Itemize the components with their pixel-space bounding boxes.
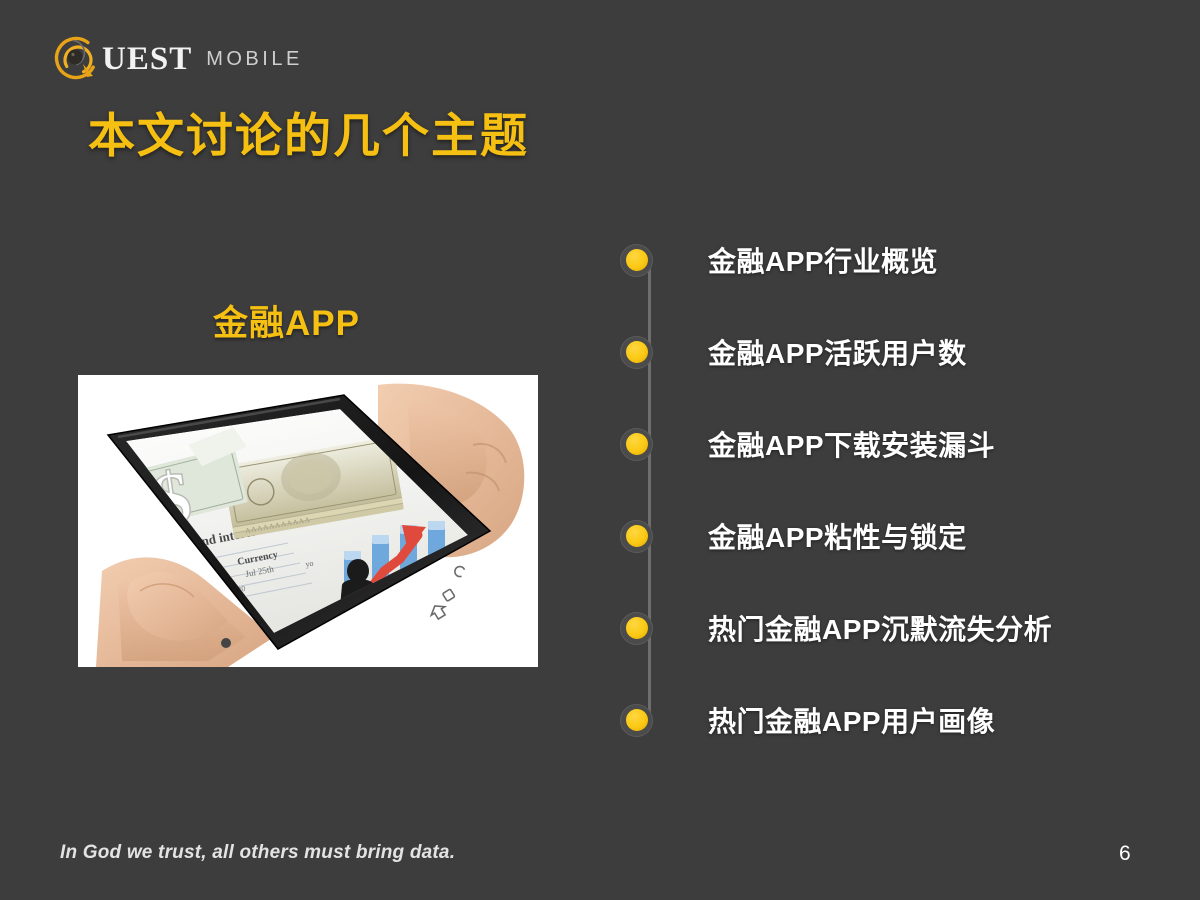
bullet-dot-icon — [620, 520, 653, 553]
brand-logo: UEST MOBILE — [52, 33, 303, 85]
bullet-dot-icon — [620, 704, 653, 737]
logo-quest-text: UEST — [102, 43, 192, 76]
topic-label: 金融APP行业概览 — [708, 240, 938, 280]
svg-text:yo: yo — [305, 559, 315, 569]
topic-item-6[interactable]: 热门金融APP用户画像 — [620, 700, 995, 740]
logo-mobile-text: MOBILE — [206, 49, 303, 69]
topic-label: 热门金融APP用户画像 — [708, 700, 995, 740]
bullet-dot-icon — [620, 612, 653, 645]
page-number: 6 — [1119, 842, 1131, 866]
timeline-connector — [648, 260, 651, 722]
topic-label: 金融APP粘性与锁定 — [708, 516, 967, 556]
footer-quote: In God we trust, all others must bring d… — [60, 842, 455, 864]
topic-item-3[interactable]: 金融APP下载安装漏斗 — [620, 424, 995, 464]
topic-item-1[interactable]: 金融APP行业概览 — [620, 240, 938, 280]
slide-root: UEST MOBILE 本文讨论的几个主题 金融APP — [0, 0, 1200, 900]
bullet-dot-icon — [620, 428, 653, 461]
topics-timeline: 金融APP行业概览 金融APP活跃用户数 金融APP下载安装漏斗 金融APP粘性… — [620, 230, 1140, 750]
finance-tablet-photo: and interes ace Currency Jul 25th yo 120… — [78, 375, 538, 667]
topic-item-2[interactable]: 金融APP活跃用户数 — [620, 332, 967, 372]
bullet-dot-icon — [620, 244, 653, 277]
bullet-dot-icon — [620, 336, 653, 369]
topic-label: 热门金融APP沉默流失分析 — [708, 608, 1052, 648]
topic-item-4[interactable]: 金融APP粘性与锁定 — [620, 516, 967, 556]
topic-item-5[interactable]: 热门金融APP沉默流失分析 — [620, 608, 1052, 648]
topic-label: 金融APP下载安装漏斗 — [708, 424, 995, 464]
questmobile-q-logo-icon — [52, 33, 104, 85]
topic-label: 金融APP活跃用户数 — [708, 332, 967, 372]
page-title: 本文讨论的几个主题 — [88, 110, 529, 162]
left-panel-heading: 金融APP — [213, 305, 360, 344]
